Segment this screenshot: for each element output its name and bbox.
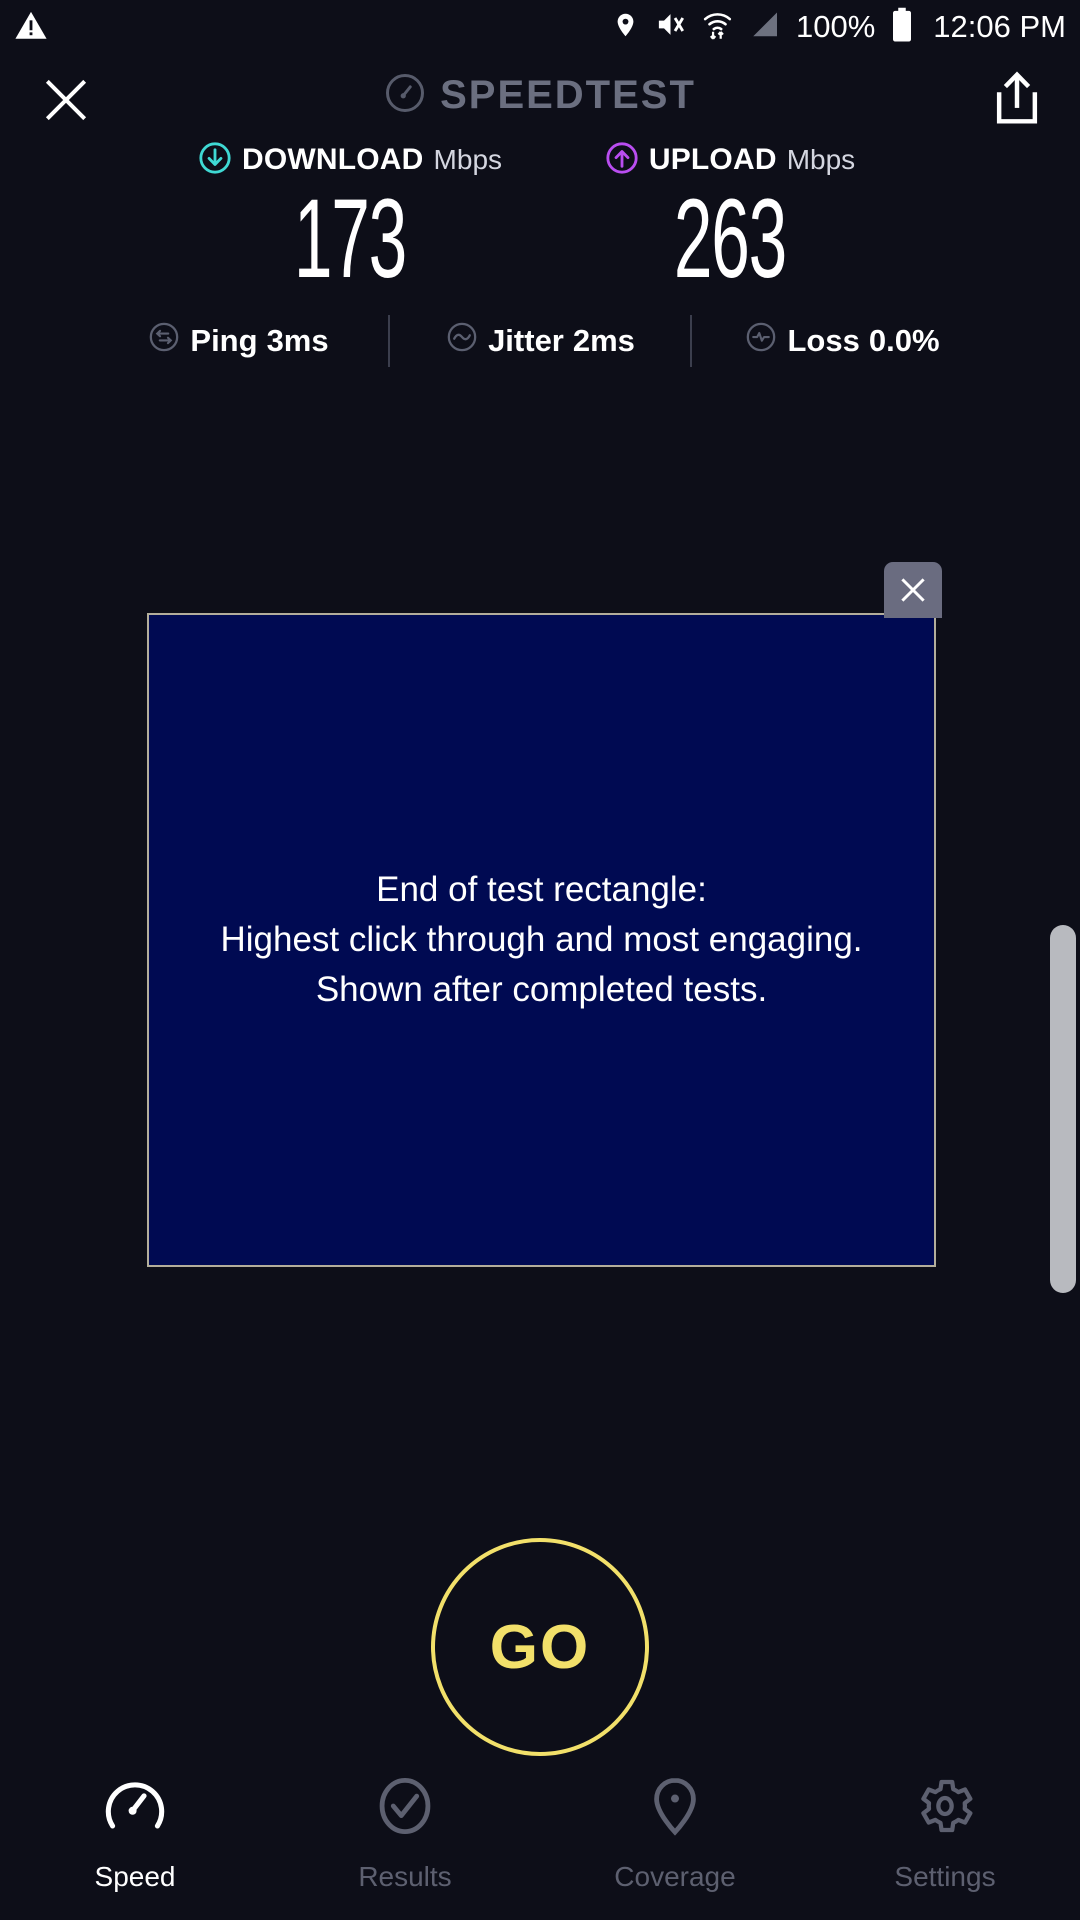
download-value: 173	[232, 180, 468, 298]
battery-full-icon	[891, 7, 913, 48]
results-panel: DOWNLOAD Mbps 173 UPLOAD Mbps 263	[0, 140, 1080, 298]
ping-metric: Ping 3ms	[88, 320, 388, 362]
app-header: SPEEDTEST	[0, 54, 1080, 144]
ping-value: 3ms	[267, 323, 329, 359]
gear-icon	[913, 1774, 977, 1843]
download-metric: DOWNLOAD Mbps 173	[160, 140, 540, 298]
loss-metric: Loss 0.0%	[692, 320, 992, 362]
app-title: SPEEDTEST	[440, 73, 696, 118]
warning-triangle-icon	[14, 9, 48, 48]
go-button-label: GO	[490, 1612, 590, 1683]
nav-label-settings: Settings	[894, 1861, 995, 1893]
check-circle-icon	[373, 1774, 437, 1843]
nav-label-speed: Speed	[95, 1861, 176, 1893]
ad-close-button[interactable]	[884, 562, 942, 618]
status-bar-right: 100% 12:06 PM	[612, 0, 1066, 54]
jitter-icon	[445, 320, 479, 362]
location-pin-icon	[612, 9, 639, 46]
upload-value: 263	[612, 180, 848, 298]
nav-label-results: Results	[358, 1861, 451, 1893]
download-label: DOWNLOAD	[242, 143, 424, 177]
speedtest-app-screen: 100% 12:06 PM	[0, 0, 1080, 1920]
upload-header: UPLOAD Mbps	[540, 140, 920, 180]
loss-icon	[744, 320, 778, 362]
upload-unit: Mbps	[787, 144, 855, 176]
download-unit: Mbps	[434, 144, 502, 176]
upload-label: UPLOAD	[649, 143, 777, 177]
scrollbar-thumb[interactable]	[1050, 925, 1076, 1293]
speedometer-icon	[103, 1774, 167, 1843]
ad-line-2: Highest click through and most engaging.	[220, 915, 862, 965]
mute-icon	[655, 9, 686, 45]
nav-label-coverage: Coverage	[614, 1861, 735, 1893]
advertisement-banner[interactable]: End of test rectangle: Highest click thr…	[147, 613, 936, 1267]
nav-item-settings[interactable]: Settings	[810, 1774, 1080, 1893]
share-button[interactable]	[990, 70, 1044, 128]
nav-item-speed[interactable]: Speed	[0, 1774, 270, 1893]
clock-label: 12:06 PM	[933, 9, 1066, 45]
bottom-navigation: Speed Results Coverage	[0, 1760, 1080, 1920]
download-header: DOWNLOAD Mbps	[160, 140, 540, 180]
speed-results-row: DOWNLOAD Mbps 173 UPLOAD Mbps 263	[0, 140, 1080, 298]
go-button[interactable]: GO	[431, 1538, 649, 1756]
ad-text-block: End of test rectangle: Highest click thr…	[212, 865, 870, 1014]
jitter-label: Jitter	[488, 323, 564, 359]
upload-arrow-icon	[605, 141, 639, 180]
nav-item-results[interactable]: Results	[270, 1774, 540, 1893]
loss-value: 0.0%	[869, 323, 940, 359]
status-bar: 100% 12:06 PM	[0, 0, 1080, 54]
wifi-icon	[702, 9, 733, 46]
ping-jitter-loss-row: Ping 3ms Jitter 2ms	[0, 315, 1080, 367]
ping-label: Ping	[190, 323, 257, 359]
ad-line-3: Shown after completed tests.	[220, 965, 862, 1015]
ad-line-1: End of test rectangle:	[220, 865, 862, 915]
download-arrow-icon	[198, 141, 232, 180]
cell-signal-icon	[749, 10, 780, 45]
ping-icon	[147, 320, 181, 362]
brand: SPEEDTEST	[0, 72, 1080, 119]
speedometer-icon	[384, 72, 426, 119]
location-pin-icon	[643, 1774, 707, 1843]
jitter-value: 2ms	[573, 323, 635, 359]
jitter-metric: Jitter 2ms	[390, 320, 690, 362]
upload-metric: UPLOAD Mbps 263	[540, 140, 920, 298]
nav-item-coverage[interactable]: Coverage	[540, 1774, 810, 1893]
battery-percent-label: 100%	[796, 9, 875, 45]
loss-label: Loss	[787, 323, 859, 359]
